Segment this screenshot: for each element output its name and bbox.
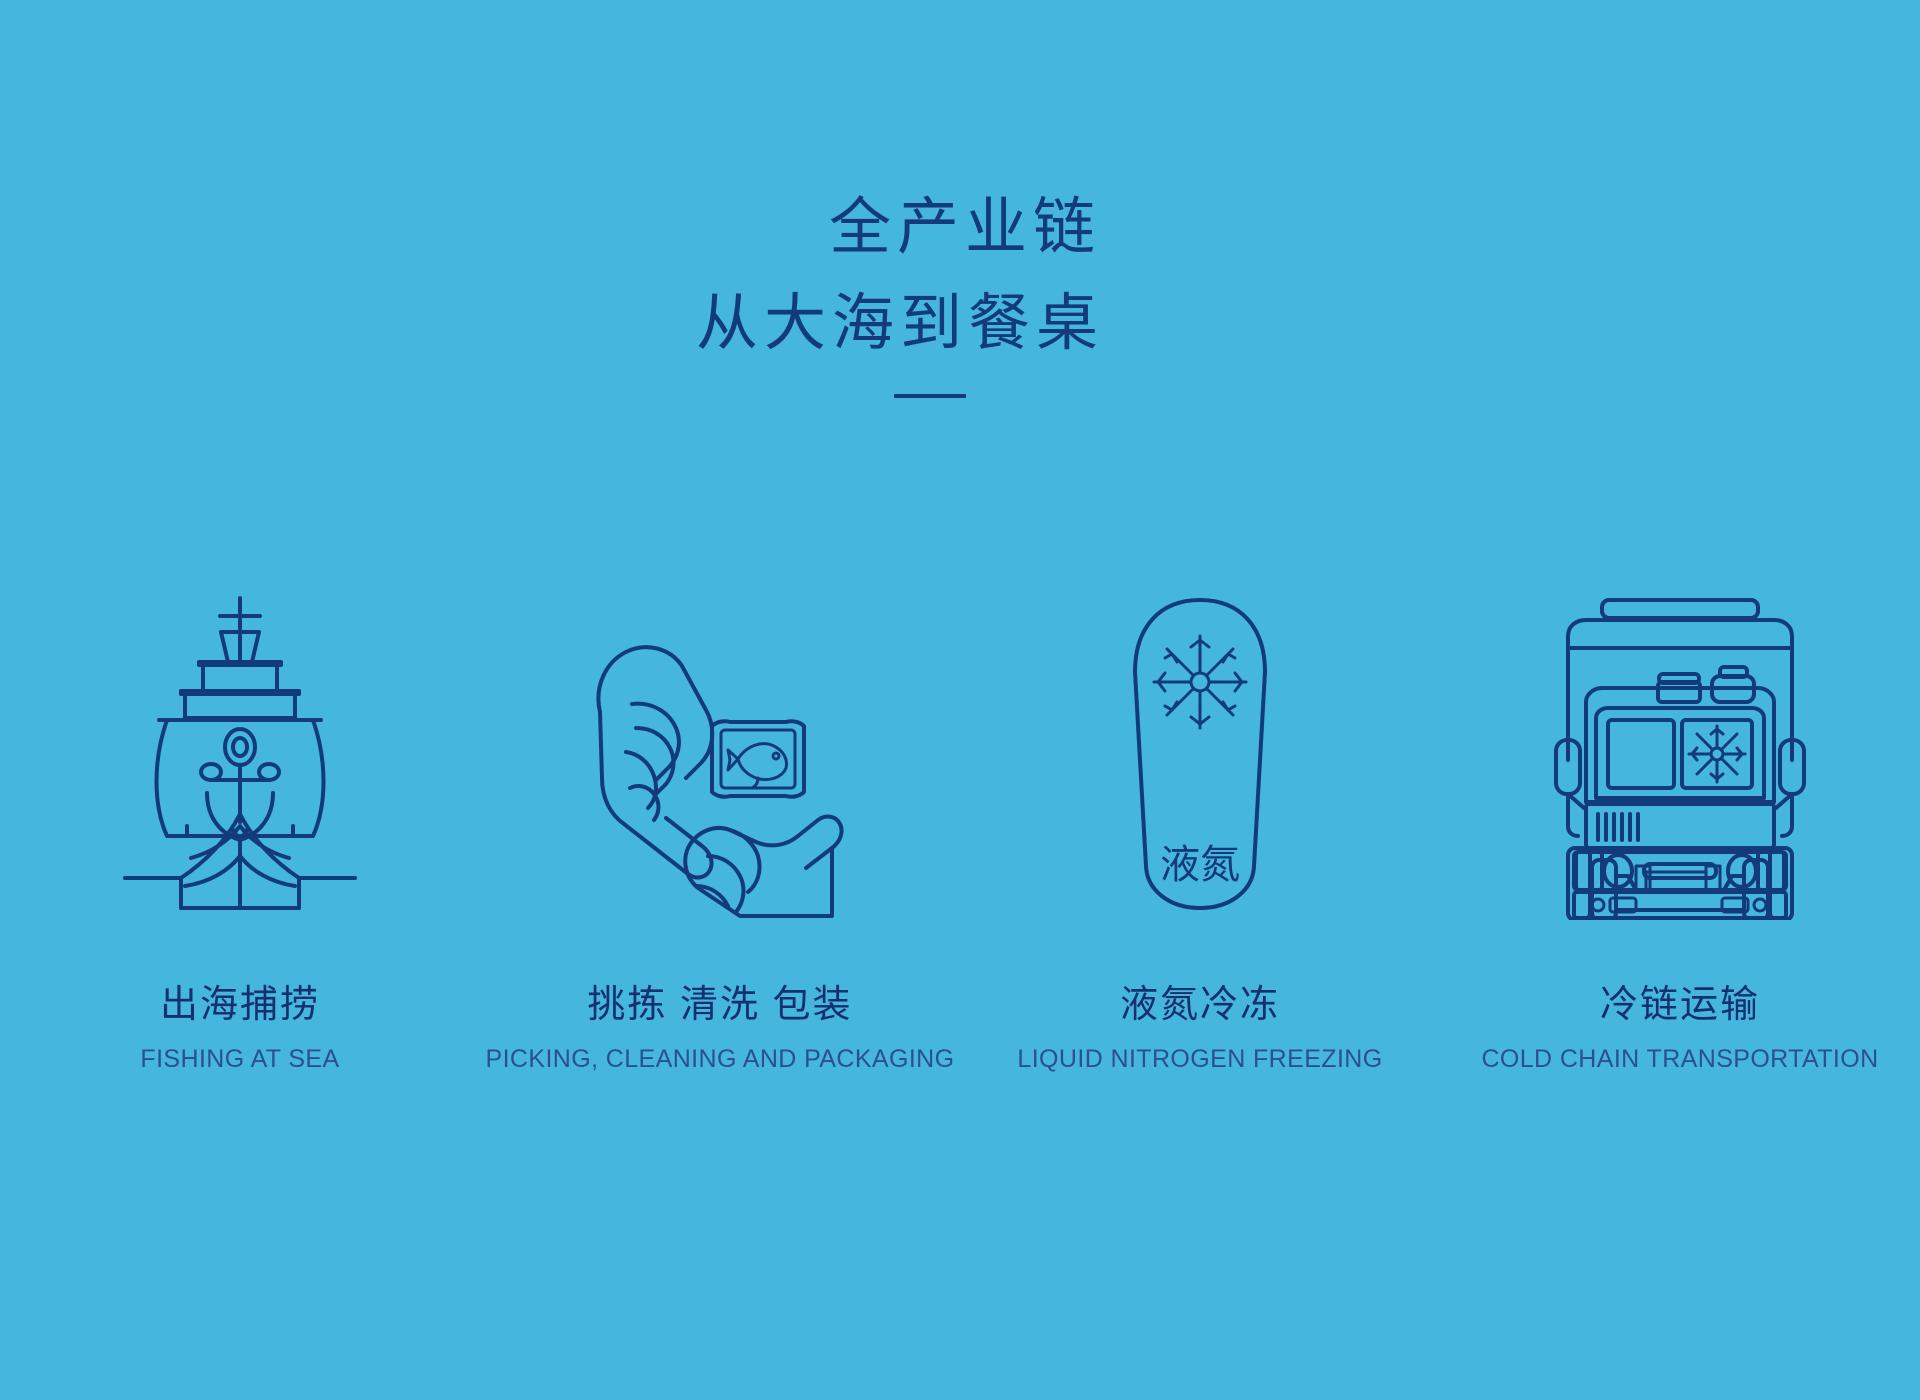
process-steps-row: 出海捕捞 FISHING AT SEA bbox=[0, 520, 1920, 1074]
step-4-labels: 冷链运输 COLD CHAIN TRANSPORTATION bbox=[1481, 982, 1878, 1074]
snowflake-icon bbox=[1689, 726, 1745, 782]
step-cold-chain-transportation: 冷链运输 COLD CHAIN TRANSPORTATION bbox=[1440, 520, 1920, 1074]
page-root: 全产业链 从大海到餐桌 bbox=[0, 0, 1920, 1400]
step-4-label-cn: 冷链运输 bbox=[1481, 982, 1878, 1028]
fishing-boat-anchor-icon bbox=[115, 590, 365, 920]
page-title-line-2: 从大海到餐桌 bbox=[0, 276, 1920, 372]
step-picking-cleaning-packaging: 挑拣 清洗 包装 PICKING, CLEANING AND PACKAGING bbox=[480, 520, 960, 1074]
step-1-label-en: FISHING AT SEA bbox=[140, 1044, 339, 1074]
page-title-line-1: 全产业链 bbox=[10, 180, 1920, 276]
step-1-icon-box bbox=[115, 520, 365, 920]
step-2-labels: 挑拣 清洗 包装 PICKING, CLEANING AND PACKAGING bbox=[486, 982, 955, 1074]
page-header: 全产业链 从大海到餐桌 bbox=[0, 180, 1920, 398]
step-fishing-at-sea: 出海捕捞 FISHING AT SEA bbox=[0, 520, 480, 1074]
step-2-icon-box bbox=[570, 520, 870, 920]
tank-label-text: 液氮 bbox=[1160, 843, 1240, 887]
step-2-label-en: PICKING, CLEANING AND PACKAGING bbox=[486, 1044, 955, 1074]
title-divider bbox=[894, 394, 966, 398]
step-3-label-cn: 液氮冷冻 bbox=[1017, 982, 1382, 1028]
title-divider-wrap bbox=[0, 394, 1920, 398]
step-4-label-en: COLD CHAIN TRANSPORTATION bbox=[1481, 1044, 1878, 1074]
step-3-label-en: LIQUID NITROGEN FREEZING bbox=[1017, 1044, 1382, 1074]
step-3-labels: 液氮冷冻 LIQUID NITROGEN FREEZING bbox=[1017, 982, 1382, 1074]
step-4-icon-box bbox=[1550, 520, 1810, 920]
refrigerated-truck-icon bbox=[1550, 590, 1810, 920]
step-1-label-cn: 出海捕捞 bbox=[140, 982, 339, 1028]
step-2-label-cn: 挑拣 清洗 包装 bbox=[486, 982, 955, 1028]
snowflake-icon bbox=[1154, 636, 1246, 728]
liquid-nitrogen-tank-icon: 液氮 bbox=[1115, 590, 1285, 920]
hands-packaged-fish-icon bbox=[570, 590, 870, 920]
step-3-icon-box: 液氮 bbox=[1115, 520, 1285, 920]
step-1-labels: 出海捕捞 FISHING AT SEA bbox=[140, 982, 339, 1074]
step-liquid-nitrogen-freezing: 液氮 液氮冷冻 LIQUID NITROGEN FREEZING bbox=[960, 520, 1440, 1074]
